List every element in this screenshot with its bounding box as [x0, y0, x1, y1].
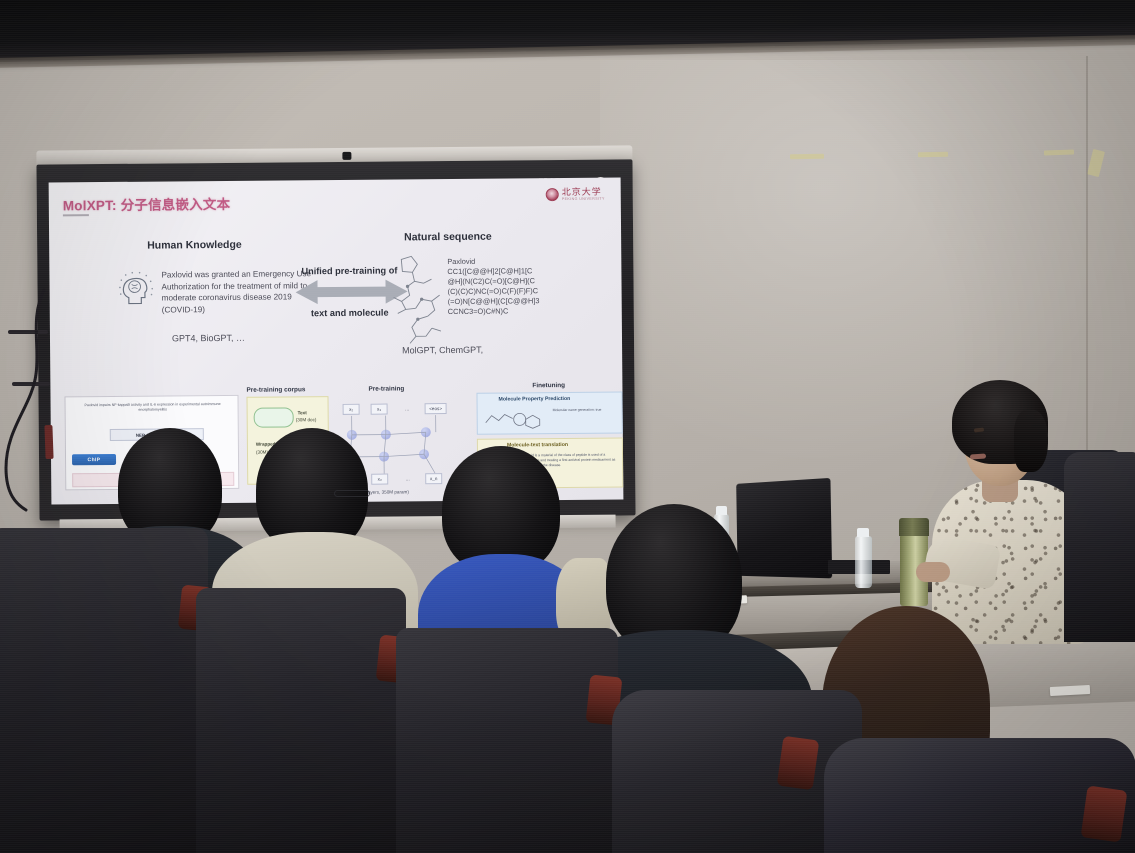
leather-chair[interactable] — [0, 528, 208, 853]
molecule-structure-icon — [387, 253, 450, 346]
property-molecule-icon — [483, 408, 547, 431]
pku-seal-icon — [546, 188, 559, 201]
wall-tape-mark — [790, 154, 824, 160]
thermos-cap — [899, 518, 929, 536]
water-bottle-cap — [857, 528, 869, 537]
leather-chair[interactable] — [396, 628, 618, 853]
corpus-text-meta: (30M doc) — [296, 417, 317, 423]
smiles-value: CC1([C@@H]2[C@H]1[C@H](N(C2)C(=O)[C@H](C… — [447, 266, 539, 316]
leather-chair-armrest — [777, 736, 820, 791]
water-bottle — [855, 536, 872, 588]
title-underline — [63, 214, 89, 216]
wall-tape-mark — [918, 152, 948, 158]
slide-title: MolXPT: 分子信息嵌入文本 — [63, 193, 231, 214]
leather-chair[interactable] — [196, 588, 406, 853]
molecule-property-prediction-note: Molecular name generation: true — [553, 408, 617, 413]
presenter-hair-side — [1014, 410, 1048, 472]
natural-sequence-models: MolGPT, ChemGPT, — [402, 345, 483, 356]
brain-head-icon — [115, 270, 159, 314]
human-knowledge-heading: Human Knowledge — [147, 239, 242, 252]
smiles-string: Paxlovid CC1([C@@H]2[C@H]1[C@H](N(C2)C(=… — [447, 256, 540, 317]
leather-chair-armrest — [1081, 785, 1128, 842]
presenter-hand — [916, 562, 950, 582]
peking-university-logo: 北京大学 PEKING UNIVERSITY — [546, 188, 605, 202]
display-cable — [0, 288, 60, 523]
finetuning-heading: Finetuning — [532, 382, 565, 389]
compound-name: Paxlovid — [447, 257, 475, 266]
presentation-room-photo: EPGZ-WDPD MolXPT: 分子信息嵌入文本 北京大学 PEKING U… — [0, 0, 1135, 853]
leather-chair[interactable] — [1064, 452, 1135, 642]
corpus-text-pill — [254, 407, 294, 427]
pku-logo-subtext: PEKING UNIVERSITY — [562, 197, 605, 201]
molecule-property-prediction-title: Molecule Property Prediction — [499, 396, 571, 403]
preprocess-source-text: Paxlovid impairs NF-kappaB activity and … — [74, 402, 232, 413]
webcam-icon — [342, 152, 351, 160]
pretraining-corpus-heading: Pre-training corpus — [246, 386, 305, 394]
human-knowledge-models: GPT4, BioGPT, … — [172, 333, 245, 344]
audience-glasses-icon — [334, 490, 370, 497]
display-cable-tag — [44, 425, 53, 459]
pku-logo-text: 北京大学 — [562, 188, 605, 197]
corpus-text-label: Text — [298, 410, 307, 416]
wall-tape-mark — [1044, 149, 1074, 155]
natural-sequence-heading: Natural sequence — [404, 231, 492, 244]
